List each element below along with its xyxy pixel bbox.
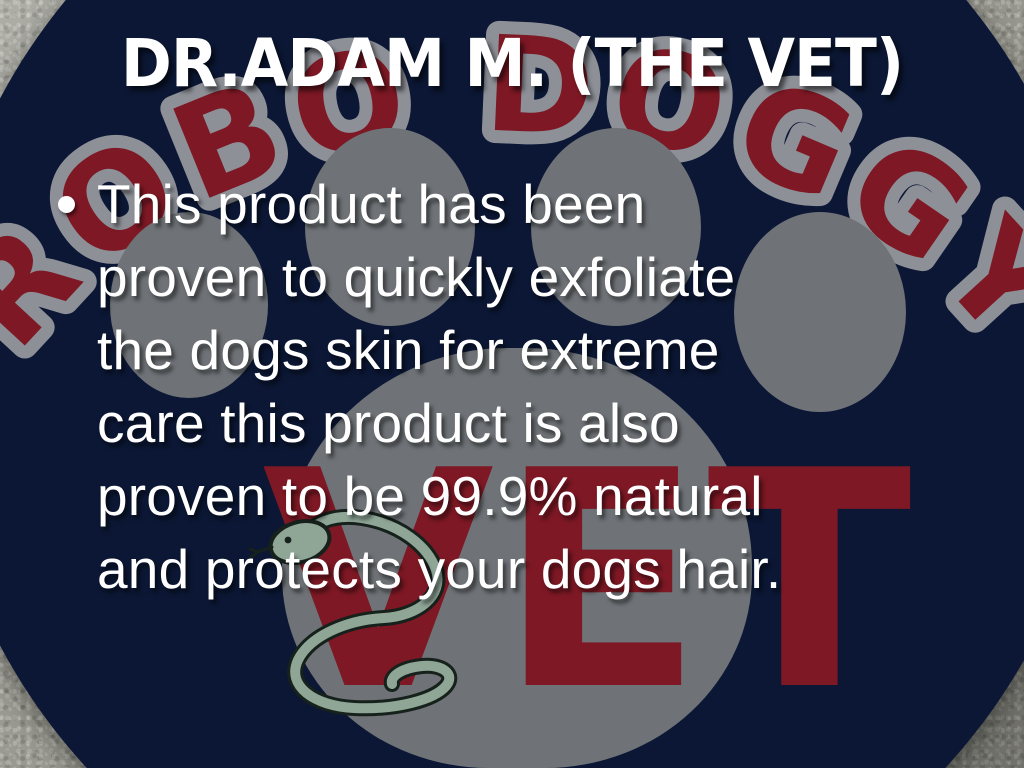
body-line: and protects your dogs hair. (97, 533, 978, 606)
slide-canvas: ROBO DOGGY ROBO DOGGY VET DR.ADAM M. (0, 0, 1024, 768)
bullet-list-item: This product has been proven to quickly … (58, 168, 978, 606)
body-line: proven to be 99.9% natural (97, 460, 978, 533)
bullet-body-text: This product has been proven to quickly … (97, 168, 978, 606)
body-line: This product has been (97, 168, 978, 241)
body-line: care this product is also (97, 387, 978, 460)
bullet-point-icon (58, 196, 75, 213)
page-title: DR.ADAM M. (THE VET) (36, 28, 988, 100)
body-line: proven to quickly exfoliate (97, 241, 978, 314)
body-line: the dogs skin for extreme (97, 314, 978, 387)
